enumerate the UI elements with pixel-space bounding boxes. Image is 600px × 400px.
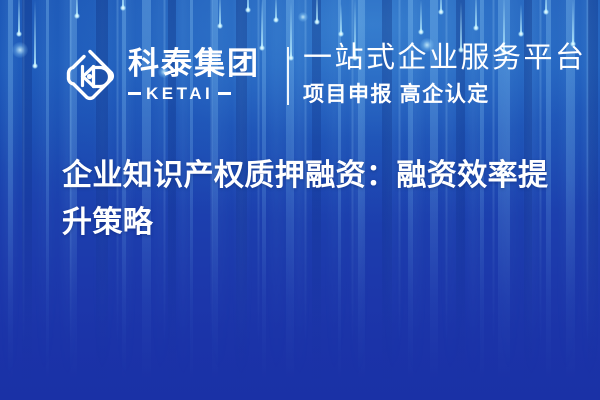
falling-light-streak-icon (316, 0, 318, 22)
stripe-column (8, 0, 13, 400)
ketai-kt-diamond-monogram-icon (62, 48, 118, 104)
brand-name-cn: 科泰集团 (128, 48, 260, 81)
banner-headline: 企业知识产权质押融资：融资效率提升策略 (62, 152, 562, 247)
falling-light-streak-icon (440, 0, 442, 12)
falling-light-streak-icon (520, 4, 522, 34)
falling-light-streak-icon (219, 0, 221, 26)
falling-light-streak-icon (261, 0, 263, 48)
stripe-column (46, 0, 49, 400)
falling-light-streak-icon (18, 0, 20, 34)
logo-tagline-divider (287, 47, 289, 105)
falling-light-streak-icon (290, 2, 292, 58)
stripe-column (22, 0, 32, 400)
brand-name-en-row: KETAI (128, 84, 260, 104)
stripe-column (588, 0, 598, 400)
falling-light-streak-icon (76, 0, 78, 16)
tagline-block: 一站式企业服务平台 项目申报 高企认定 (303, 42, 587, 108)
falling-light-streak-icon (122, 0, 124, 8)
falling-light-streak-icon (275, 0, 277, 20)
dash-right-icon (218, 92, 231, 95)
falling-light-streak-icon (545, 0, 547, 12)
brand-logo-text: 科泰集团 KETAI (128, 48, 260, 104)
tagline-primary: 一站式企业服务平台 (303, 42, 587, 74)
promo-banner: 科泰集团 KETAI 一站式企业服务平台 项目申报 高企认定 企业知识产权质押融… (0, 0, 600, 400)
brand-logo: 科泰集团 KETAI (62, 44, 260, 108)
falling-light-streak-icon (420, 0, 422, 32)
brand-name-en: KETAI (146, 84, 213, 104)
falling-light-streak-icon (572, 0, 574, 44)
light-glow-icon (298, 12, 308, 22)
falling-light-streak-icon (340, 4, 342, 34)
falling-light-streak-icon (475, 0, 477, 28)
falling-light-streak-icon (247, 0, 249, 10)
dash-left-icon (128, 92, 141, 95)
falling-light-streak-icon (34, 0, 36, 66)
light-glow-icon (12, 42, 28, 58)
tagline-secondary: 项目申报 高企认定 (303, 78, 587, 108)
